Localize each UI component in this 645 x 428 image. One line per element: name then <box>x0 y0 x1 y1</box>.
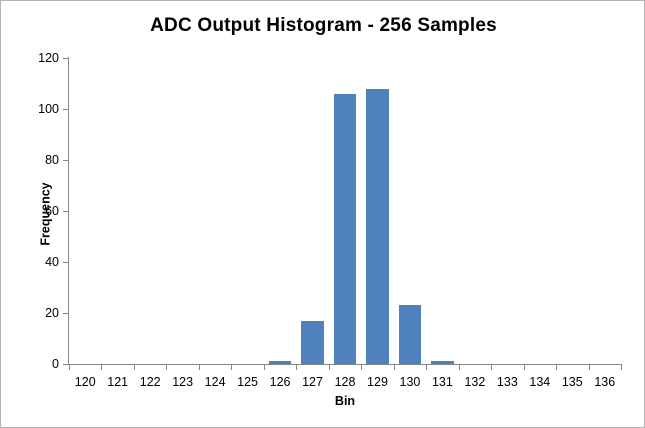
bar[interactable] <box>366 89 389 364</box>
x-axis-tick <box>199 364 200 370</box>
x-axis-tick <box>296 364 297 370</box>
x-axis-line <box>68 364 622 365</box>
x-axis-tick-label: 128 <box>335 375 356 389</box>
x-axis-tick <box>101 364 102 370</box>
y-axis-tick <box>63 262 69 263</box>
y-axis-tick-label: 20 <box>45 306 59 320</box>
x-axis-tick <box>69 364 70 370</box>
bar[interactable] <box>269 361 292 364</box>
x-axis-tick <box>589 364 590 370</box>
y-axis-tick-label: 40 <box>45 255 59 269</box>
x-axis-tick <box>231 364 232 370</box>
y-axis-tick-label: 0 <box>52 357 59 371</box>
x-axis-tick-label: 129 <box>367 375 388 389</box>
y-axis-tick <box>63 109 69 110</box>
bar[interactable] <box>431 361 454 364</box>
x-axis-tick-label: 125 <box>237 375 258 389</box>
y-axis-tick <box>63 58 69 59</box>
x-axis-tick-label: 134 <box>529 375 550 389</box>
x-axis-tick-label: 123 <box>172 375 193 389</box>
y-axis-tick <box>63 211 69 212</box>
bar[interactable] <box>399 305 422 364</box>
x-axis-tick <box>264 364 265 370</box>
y-axis-tick-label: 120 <box>38 51 59 65</box>
y-axis-tick <box>63 313 69 314</box>
x-axis-tick-label: 126 <box>270 375 291 389</box>
x-axis-tick <box>426 364 427 370</box>
x-axis-tick-label: 135 <box>562 375 583 389</box>
plot-area: 020406080100120 120121122123124125126127… <box>69 58 621 364</box>
x-axis-tick <box>491 364 492 370</box>
x-axis-tick <box>524 364 525 370</box>
y-axis-tick-label: 100 <box>38 102 59 116</box>
x-axis-tick <box>329 364 330 370</box>
y-axis-tick-label: 80 <box>45 153 59 167</box>
x-axis-tick-label: 120 <box>75 375 96 389</box>
x-axis-tick-label: 133 <box>497 375 518 389</box>
x-axis-tick <box>394 364 395 370</box>
x-axis-tick <box>134 364 135 370</box>
x-axis-tick-label: 127 <box>302 375 323 389</box>
x-axis-tick-label: 132 <box>464 375 485 389</box>
x-axis-title: Bin <box>69 394 621 408</box>
y-axis-tick <box>63 160 69 161</box>
bar[interactable] <box>301 321 324 364</box>
x-axis-tick <box>621 364 622 370</box>
chart-title: ADC Output Histogram - 256 Samples <box>1 15 645 37</box>
x-axis-tick-label: 124 <box>205 375 226 389</box>
x-axis-tick <box>459 364 460 370</box>
chart-container: ADC Output Histogram - 256 Samples Frequ… <box>0 0 645 428</box>
x-axis-tick-label: 122 <box>140 375 161 389</box>
x-axis-tick <box>556 364 557 370</box>
x-axis-tick-label: 136 <box>594 375 615 389</box>
x-axis-tick-label: 130 <box>400 375 421 389</box>
y-axis-tick-label: 60 <box>45 204 59 218</box>
bar[interactable] <box>334 94 357 364</box>
x-axis-tick <box>361 364 362 370</box>
x-axis-tick-label: 121 <box>107 375 128 389</box>
x-axis-tick-label: 131 <box>432 375 453 389</box>
x-axis-tick <box>166 364 167 370</box>
